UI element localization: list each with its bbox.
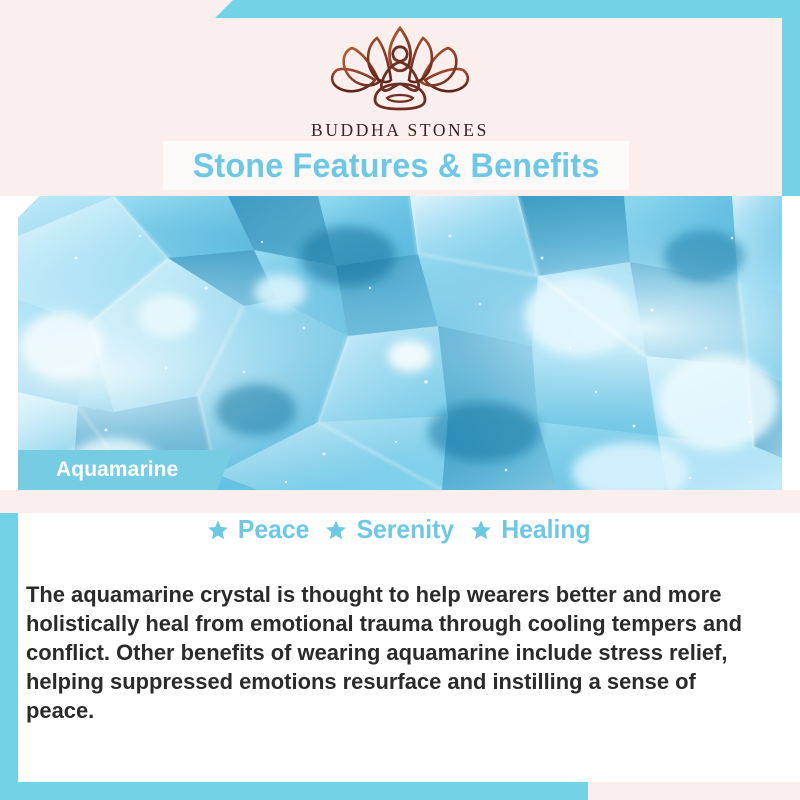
frame-cream-bottom-right bbox=[588, 782, 800, 800]
keyword-label: Serenity bbox=[356, 514, 453, 545]
keyword-label: Healing bbox=[502, 514, 591, 545]
stone-description: The aquamarine crystal is thought to hel… bbox=[26, 580, 752, 725]
frame-accent-left bbox=[0, 513, 18, 800]
stone-name-label: Aquamarine bbox=[56, 458, 178, 482]
frame-accent-bottom bbox=[0, 782, 608, 800]
stone-name-badge: Aquamarine bbox=[18, 450, 233, 490]
brand-logo: BUDDHA STONES bbox=[0, 26, 800, 141]
keyword-item-peace: Peace bbox=[207, 514, 311, 545]
star-icon bbox=[207, 519, 229, 541]
star-icon bbox=[470, 519, 492, 541]
keyword-item-healing: Healing bbox=[470, 514, 593, 545]
star-icon bbox=[325, 519, 347, 541]
page-title: Stone Features & Benefits bbox=[193, 149, 600, 183]
keyword-list: Peace Serenity Healing bbox=[0, 514, 800, 545]
frame-accent-top bbox=[215, 0, 800, 18]
lotus-meditation-figure-icon bbox=[325, 26, 475, 114]
section-title-card: Stone Features & Benefits bbox=[163, 141, 629, 190]
brand-name: BUDDHA STONES bbox=[0, 120, 800, 141]
aquamarine-crystal-photo bbox=[18, 196, 782, 490]
keyword-label: Peace bbox=[238, 514, 309, 545]
background-cream-middle bbox=[0, 490, 800, 513]
keyword-item-serenity: Serenity bbox=[325, 514, 457, 545]
infographic-card: BUDDHA STONES Stone Features & Benefits … bbox=[0, 0, 800, 800]
